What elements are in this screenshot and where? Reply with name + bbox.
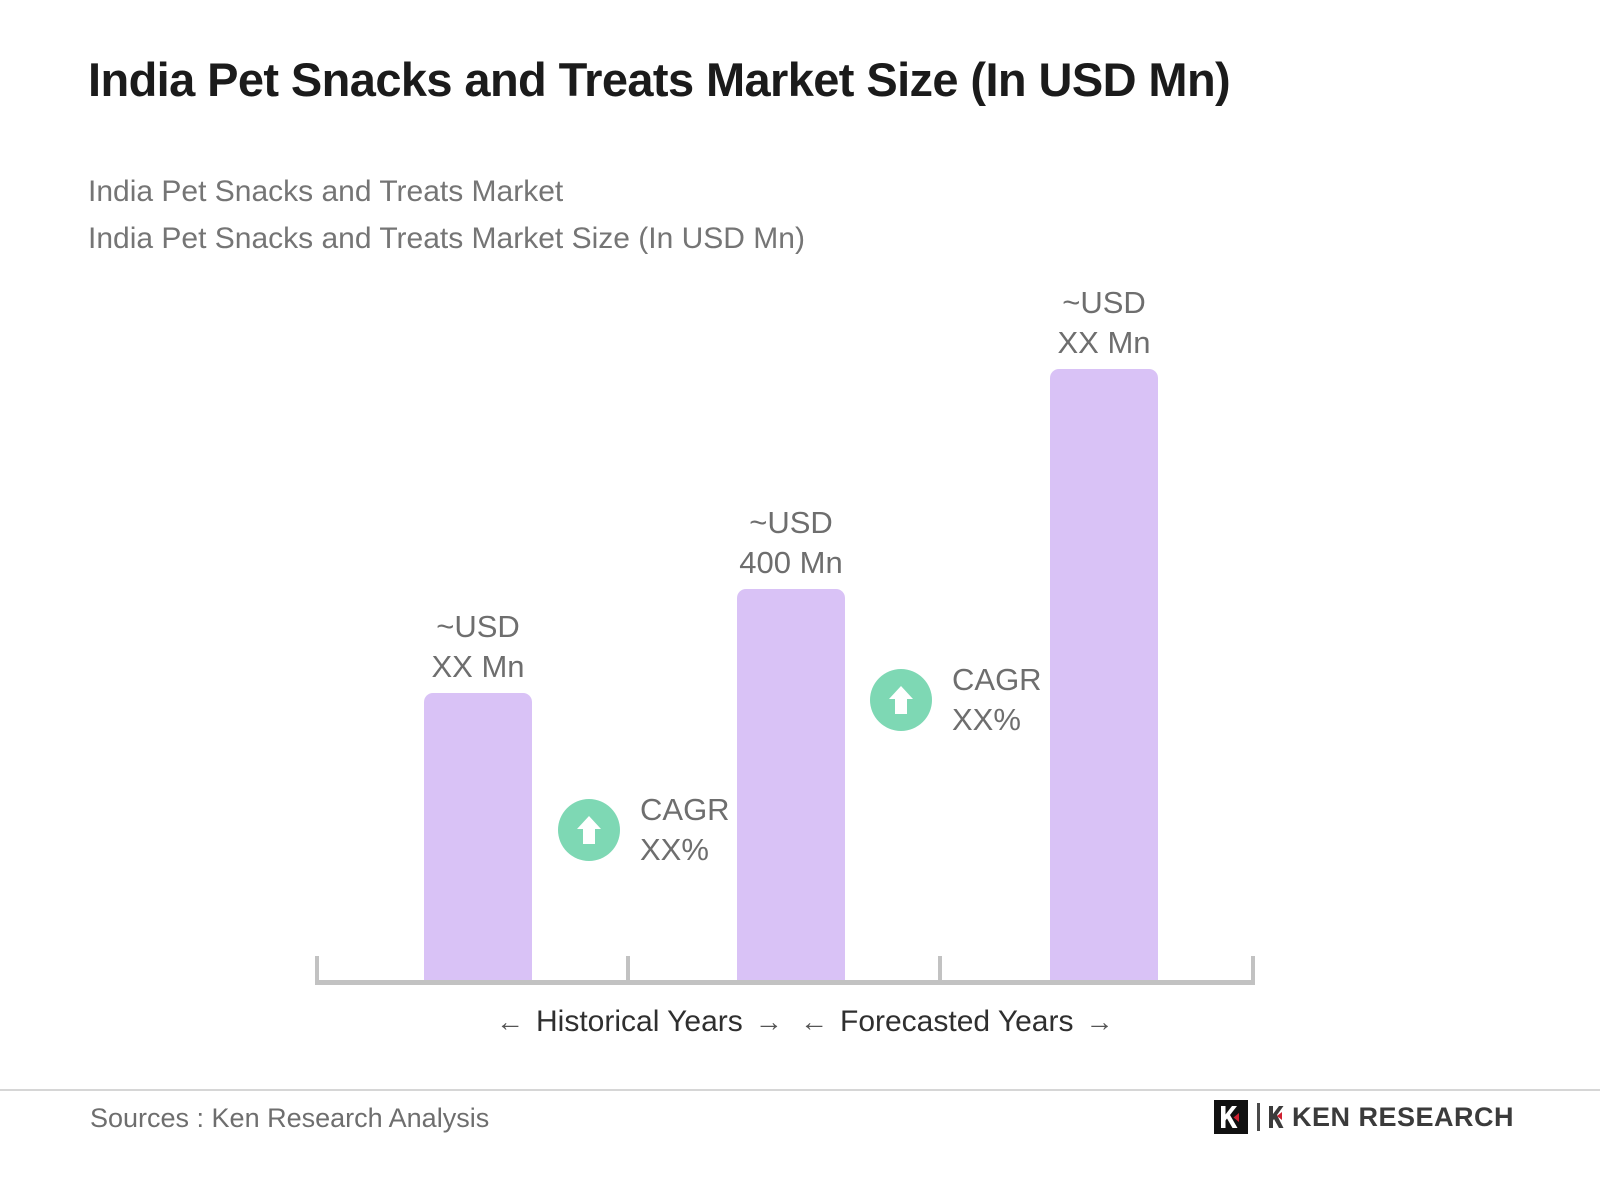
period-label-historical: ← Historical Years →: [496, 1005, 783, 1039]
logo-divider: [1257, 1103, 1260, 1131]
cagr-label-forecast: CAGR: [952, 660, 1042, 700]
bar-label-historical-line2: XX Mn: [378, 647, 578, 687]
arrow-right-icon: →: [755, 1006, 783, 1038]
axis-tick-mid-1: [626, 956, 630, 982]
logo-text: KEN RESEARCH: [1292, 1102, 1514, 1133]
bar-chart: ~USD XX Mn ~USD 400 Mn ~USD XX Mn CAGR X…: [0, 0, 1600, 1200]
bar-label-historical-line1: ~USD: [378, 607, 578, 647]
bar-label-current-line2: 400 Mn: [691, 543, 891, 583]
period-label-forecast: ← Forecasted Years →: [800, 1005, 1113, 1039]
axis-tick-start: [315, 956, 319, 982]
cagr-value-historical: XX%: [640, 830, 730, 870]
arrow-up-icon: [558, 799, 620, 861]
axis-tick-mid-2: [938, 956, 942, 982]
sources-text: Sources : Ken Research Analysis: [90, 1103, 489, 1134]
slide-canvas: India Pet Snacks and Treats Market Size …: [0, 0, 1600, 1200]
period-text-forecast: Forecasted Years: [840, 1005, 1073, 1039]
axis-tick-end: [1251, 956, 1255, 982]
bar-label-forecast: ~USD XX Mn: [1004, 283, 1204, 363]
period-text-historical: Historical Years: [536, 1005, 743, 1039]
cagr-value-forecast: XX%: [952, 700, 1042, 740]
bar-current: [737, 589, 845, 980]
bar-label-current-line1: ~USD: [691, 503, 891, 543]
arrow-up-icon: [870, 669, 932, 731]
ken-research-logo: KEN RESEARCH: [1214, 1100, 1514, 1134]
ken-logo-mark-icon: [1214, 1100, 1248, 1134]
footer-divider: [0, 1089, 1600, 1091]
bar-label-forecast-line1: ~USD: [1004, 283, 1204, 323]
cagr-text-historical: CAGR XX%: [640, 790, 730, 870]
bar-label-forecast-line2: XX Mn: [1004, 323, 1204, 363]
x-axis-line: [315, 980, 1255, 985]
cagr-annotation-historical: CAGR XX%: [558, 790, 730, 870]
bar-forecast: [1050, 369, 1158, 980]
cagr-annotation-forecast: CAGR XX%: [870, 660, 1042, 740]
cagr-label-historical: CAGR: [640, 790, 730, 830]
logo-k-red-icon: [1268, 1103, 1284, 1131]
arrow-left-icon: ←: [800, 1006, 828, 1038]
cagr-text-forecast: CAGR XX%: [952, 660, 1042, 740]
arrow-right-icon: →: [1085, 1006, 1113, 1038]
bar-label-current: ~USD 400 Mn: [691, 503, 891, 583]
bar-historical: [424, 693, 532, 980]
arrow-left-icon: ←: [496, 1006, 524, 1038]
ken-logo-wordmark: KEN RESEARCH: [1257, 1102, 1514, 1133]
bar-label-historical: ~USD XX Mn: [378, 607, 578, 687]
